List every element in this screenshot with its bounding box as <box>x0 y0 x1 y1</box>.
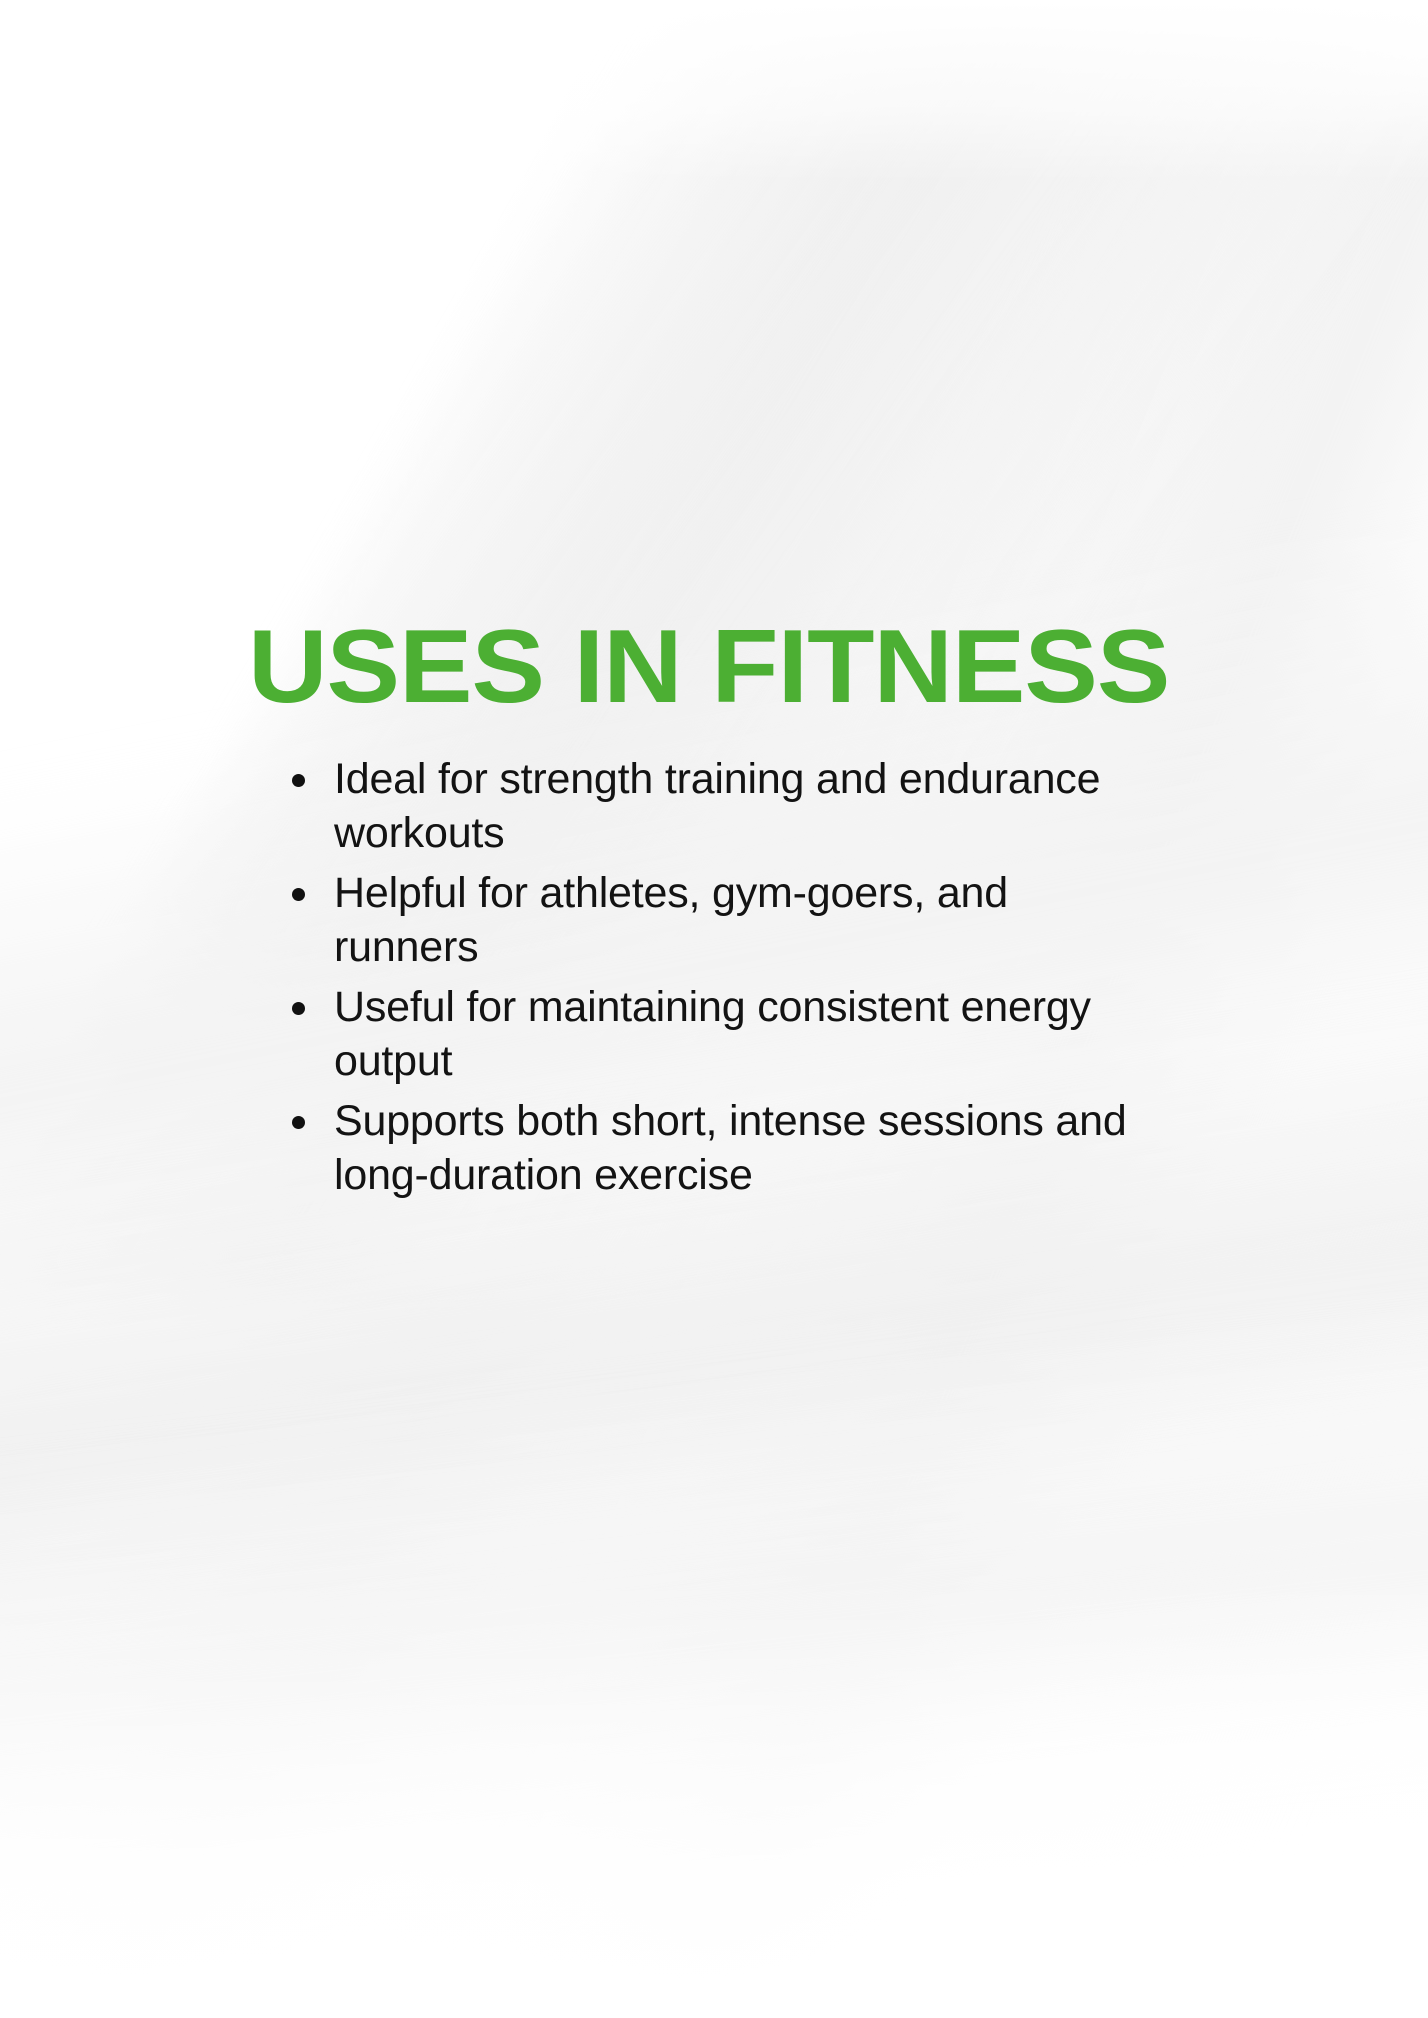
slide-content: USES IN FITNESS Ideal for strength train… <box>0 0 1428 2018</box>
list-item: Useful for maintaining consistent energy… <box>272 980 1132 1088</box>
list-item: Supports both short, intense sessions an… <box>272 1094 1132 1202</box>
list-item-text: Helpful for athletes, gym-goers, and run… <box>334 869 1008 971</box>
list-item: Helpful for athletes, gym-goers, and run… <box>272 866 1132 974</box>
bullet-dot-icon <box>292 888 305 901</box>
slide-title: USES IN FITNESS <box>248 611 1169 723</box>
list-item-text: Supports both short, intense sessions an… <box>334 1097 1127 1199</box>
bullet-dot-icon <box>292 774 305 787</box>
bullet-dot-icon <box>292 1002 305 1015</box>
fitness-uses-list: Ideal for strength training and enduranc… <box>272 752 1132 1202</box>
list-item-text: Useful for maintaining consistent energy… <box>334 983 1091 1085</box>
list-item-text: Ideal for strength training and enduranc… <box>334 755 1100 857</box>
presentation-slide: USES IN FITNESS Ideal for strength train… <box>0 0 1428 2018</box>
list-item: Ideal for strength training and enduranc… <box>272 752 1132 860</box>
bullet-dot-icon <box>292 1116 305 1129</box>
